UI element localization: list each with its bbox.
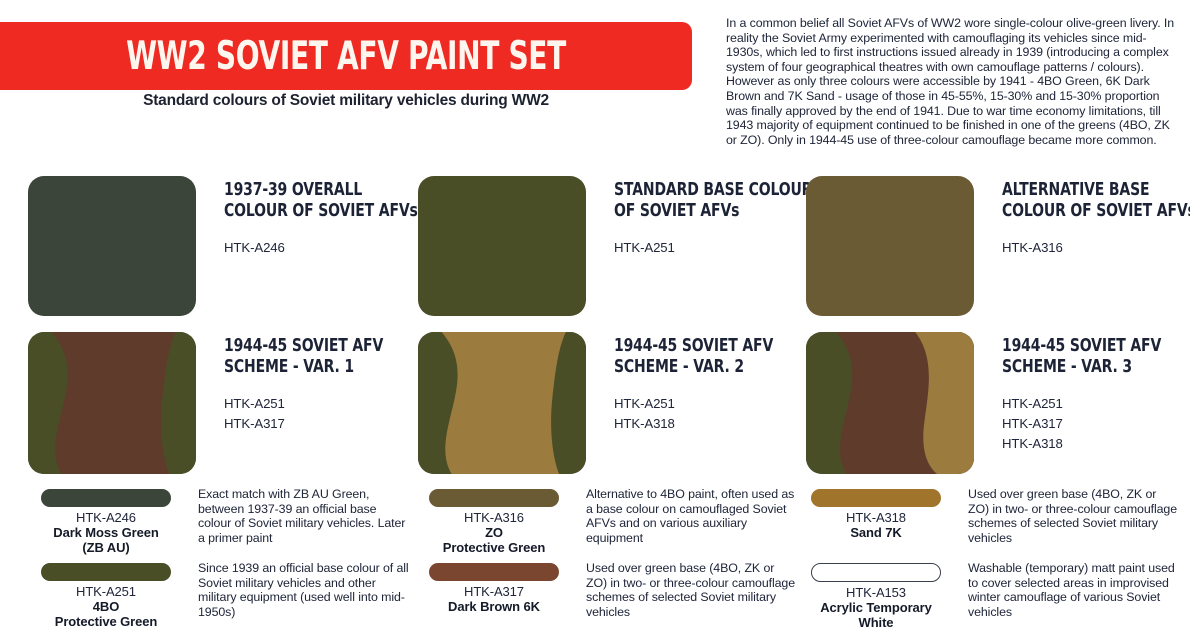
swatch-card-5: 1944-45 SOVIET AFV SCHEME - VAR. 3 HTK-A… [806,332,1186,474]
swatch-title-line2: COLOUR OF SOVIET AFVs [1002,201,1151,222]
swatch-text-4: 1944-45 SOVIET AFV SCHEME - VAR. 2 HTK-A… [614,336,800,434]
paint-set-infographic: WW2 SOVIET AFV PAINT SET Standard colour… [0,0,1190,638]
paint-pill-icon [429,563,559,581]
legend-name-line1: Sand 7K [790,525,962,540]
legend-column-middle: HTK-A316 ZO Protective Green Alternative… [408,486,798,638]
swatch-row-base-colours: 1937-39 OVERALL COLOUR OF SOVIET AFVs HT… [0,176,1190,316]
legend-swatch-block: HTK-A246 Dark Moss Green (ZB AU) [20,486,192,555]
swatch-codes-5: HTK-A251 HTK-A317 HTK-A318 [1002,394,1188,454]
swatch-title-line2: SCHEME - VAR. 3 [1002,357,1151,378]
legend-code: HTK-A251 [20,584,192,599]
paint-code: HTK-A318 [1002,434,1188,454]
legend-column-right: HTK-A318 Sand 7K Used over green base (4… [790,486,1180,638]
swatch-codes-2: HTK-A316 [1002,238,1188,258]
paint-pill-icon [811,489,941,507]
swatch-card-3: 1944-45 SOVIET AFV SCHEME - VAR. 1 HTK-A… [28,332,408,474]
legend-name-line1: 4BO [20,599,192,614]
swatch-title-line2: OF SOVIET AFVs [614,201,763,222]
camouflage-swatch-icon [806,332,974,474]
swatch-text-0: 1937-39 OVERALL COLOUR OF SOVIET AFVs HT… [224,180,410,258]
legend-description: Used over green base (4BO, ZK or ZO) in … [968,487,1180,545]
paint-code: HTK-A251 [224,394,410,414]
swatch-title-line1: ALTERNATIVE BASE [1002,180,1151,201]
legend-description: Exact match with ZB AU Green, between 19… [198,487,410,545]
legend-description: Alternative to 4BO paint, often used as … [586,487,798,545]
legend-description: Since 1939 an official base colour of al… [198,561,410,619]
camouflage-swatch-icon [418,332,586,474]
swatch-codes-0: HTK-A246 [224,238,410,258]
legend-name-line2: White [790,615,962,630]
page-title: WW2 SOVIET AFV PAINT SET [97,22,595,90]
paint-code: HTK-A316 [1002,238,1188,258]
paint-pill-icon [41,563,171,581]
paint-code: HTK-A317 [224,414,410,434]
swatch-title-line1: 1944-45 SOVIET AFV [1002,336,1151,357]
legend-swatch-block: HTK-A318 Sand 7K [790,486,962,540]
swatch-card-2: ALTERNATIVE BASE COLOUR OF SOVIET AFVs H… [806,176,1186,316]
intro-paragraph: In a common belief all Soviet AFVs of WW… [726,16,1178,147]
swatch-title-line2: SCHEME - VAR. 1 [224,357,373,378]
swatch-text-5: 1944-45 SOVIET AFV SCHEME - VAR. 3 HTK-A… [1002,336,1188,454]
page-subtitle: Standard colours of Soviet military vehi… [0,92,692,110]
swatch-codes-1: HTK-A251 [614,238,800,258]
legend-swatch-block: HTK-A316 ZO Protective Green [408,486,580,555]
legend-name-line2: Protective Green [408,540,580,555]
legend-code: HTK-A153 [790,585,962,600]
paint-code: HTK-A317 [1002,414,1188,434]
paint-swatch-icon [806,176,974,316]
paint-swatch-icon [418,176,586,316]
legend-name-line1: Acrylic Temporary [790,600,962,615]
paint-code: HTK-A251 [614,394,800,414]
legend-code: HTK-A246 [20,510,192,525]
paint-pill-icon [811,563,941,582]
camouflage-swatch-icon [28,332,196,474]
paint-swatch-icon [28,176,196,316]
swatch-text-2: ALTERNATIVE BASE COLOUR OF SOVIET AFVs H… [1002,180,1188,258]
swatch-title-line1: 1937-39 OVERALL [224,180,373,201]
swatch-card-4: 1944-45 SOVIET AFV SCHEME - VAR. 2 HTK-A… [418,332,798,474]
legend-section: HTK-A246 Dark Moss Green (ZB AU) Exact m… [0,486,1190,638]
legend-code: HTK-A316 [408,510,580,525]
legend-description: Washable (temporary) matt paint used to … [968,561,1180,619]
legend-swatch-block: HTK-A153 Acrylic Temporary White [790,560,962,630]
paint-code: HTK-A251 [1002,394,1188,414]
swatch-title-line2: COLOUR OF SOVIET AFVs [224,201,373,222]
legend-name-line2: Protective Green [20,614,192,629]
legend-code: HTK-A317 [408,584,580,599]
swatch-text-1: STANDARD BASE COLOUR OF SOVIET AFVs HTK-… [614,180,800,258]
swatch-card-0: 1937-39 OVERALL COLOUR OF SOVIET AFVs HT… [28,176,408,316]
paint-pill-icon [429,489,559,507]
legend-description: Used over green base (4BO, ZK or ZO) in … [586,561,798,619]
swatch-codes-4: HTK-A251 HTK-A318 [614,394,800,434]
paint-code: HTK-A251 [614,238,800,258]
paint-pill-icon [41,489,171,507]
legend-column-left: HTK-A246 Dark Moss Green (ZB AU) Exact m… [20,486,410,638]
legend-swatch-block: HTK-A317 Dark Brown 6K [408,560,580,614]
legend-name-line1: Dark Brown 6K [408,599,580,614]
swatch-card-1: STANDARD BASE COLOUR OF SOVIET AFVs HTK-… [418,176,798,316]
legend-code: HTK-A318 [790,510,962,525]
swatch-row-camo-schemes: 1944-45 SOVIET AFV SCHEME - VAR. 1 HTK-A… [0,332,1190,474]
legend-swatch-block: HTK-A251 4BO Protective Green [20,560,192,629]
paint-code: HTK-A246 [224,238,410,258]
swatch-codes-3: HTK-A251 HTK-A317 [224,394,410,434]
swatch-title-line1: 1944-45 SOVIET AFV [614,336,763,357]
paint-code: HTK-A318 [614,414,800,434]
swatch-title-line1: STANDARD BASE COLOUR [614,180,763,201]
swatch-title-line1: 1944-45 SOVIET AFV [224,336,373,357]
legend-name-line1: ZO [408,525,580,540]
legend-name-line2: (ZB AU) [20,540,192,555]
legend-name-line1: Dark Moss Green [20,525,192,540]
swatch-title-line2: SCHEME - VAR. 2 [614,357,763,378]
swatch-text-3: 1944-45 SOVIET AFV SCHEME - VAR. 1 HTK-A… [224,336,410,434]
